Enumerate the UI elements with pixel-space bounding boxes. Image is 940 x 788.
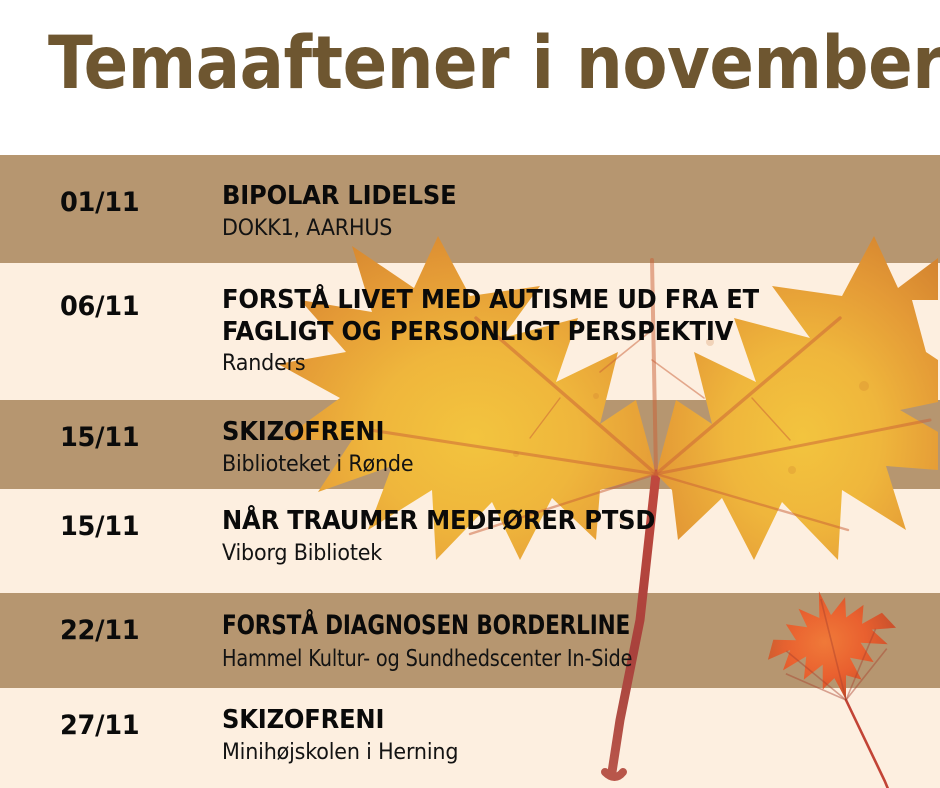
event-venue: DOKK1, AARHUS xyxy=(222,216,897,242)
table-row[interactable]: 01/11 BIPOLAR LIDELSE DOKK1, AARHUS xyxy=(0,155,940,263)
event-details: FORSTÅ DIAGNOSEN BORDERLINE Hammel Kultu… xyxy=(222,610,940,674)
event-date: 15/11 xyxy=(60,511,139,542)
table-row[interactable]: 22/11 FORSTÅ DIAGNOSEN BORDERLINE Hammel… xyxy=(0,593,940,688)
event-title: SKIZOFRENI xyxy=(222,705,890,737)
table-row[interactable]: 15/11 SKIZOFRENI Biblioteket i Rønde xyxy=(0,400,940,489)
event-date: 15/11 xyxy=(60,422,139,453)
event-title: BIPOLAR LIDELSE xyxy=(222,181,890,213)
event-details: FORSTÅ LIVET MED AUTISME UD FRA ET FAGLI… xyxy=(222,285,940,378)
poster-header: Temaaftener i november xyxy=(0,0,940,155)
event-date: 06/11 xyxy=(60,291,139,322)
event-details: NÅR TRAUMER MEDFØRER PTSD Viborg Bibliot… xyxy=(222,506,940,567)
event-date: 27/11 xyxy=(60,710,139,741)
event-venue: Randers xyxy=(222,351,897,377)
event-details: BIPOLAR LIDELSE DOKK1, AARHUS xyxy=(222,181,940,242)
event-title: FORSTÅ LIVET MED AUTISME UD FRA ET FAGLI… xyxy=(222,285,890,348)
page-title: Temaaftener i november xyxy=(48,26,940,103)
event-venue: Minihøjskolen i Herning xyxy=(222,740,897,766)
event-title: FORSTÅ DIAGNOSEN BORDERLINE xyxy=(222,610,796,643)
event-date: 22/11 xyxy=(60,615,139,646)
table-row[interactable]: 06/11 FORSTÅ LIVET MED AUTISME UD FRA ET… xyxy=(0,263,940,400)
event-venue: Viborg Bibliotek xyxy=(222,541,897,567)
event-venue: Biblioteket i Rønde xyxy=(222,452,897,478)
event-details: SKIZOFRENI Biblioteket i Rønde xyxy=(222,417,940,478)
table-row[interactable]: 15/11 NÅR TRAUMER MEDFØRER PTSD Viborg B… xyxy=(0,489,940,593)
event-date: 01/11 xyxy=(60,187,139,218)
event-title: NÅR TRAUMER MEDFØRER PTSD xyxy=(222,506,890,538)
event-details: SKIZOFRENI Minihøjskolen i Herning xyxy=(222,705,940,766)
poster-canvas: Temaaftener i november 01/11 BIPOLAR LID… xyxy=(0,0,940,788)
event-venue: Hammel Kultur- og Sundhedscenter In-Side xyxy=(222,646,825,674)
event-title: SKIZOFRENI xyxy=(222,417,890,449)
table-row[interactable]: 27/11 SKIZOFRENI Minihøjskolen i Herning xyxy=(0,688,940,788)
